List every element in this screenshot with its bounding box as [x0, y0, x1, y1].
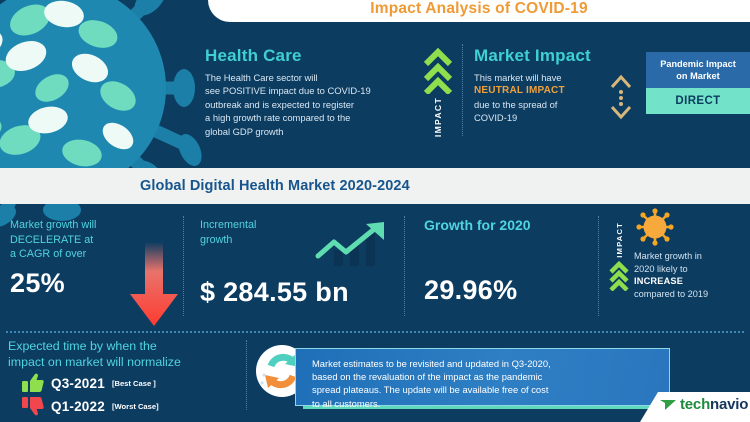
callout-line-4: to all customers.: [312, 397, 659, 410]
health-care-heading: Health Care: [205, 46, 410, 66]
technavio-logo[interactable]: tech navio: [660, 396, 748, 413]
impact-2020-line3: compared to 2019: [634, 288, 750, 301]
chevron-up-icon: [423, 48, 453, 94]
health-care-block: Health Care The Health Care sector will …: [205, 46, 410, 138]
impact-indicator-header: IMPACT: [418, 48, 458, 153]
bottom-section: Expected time by when the impact on mark…: [0, 334, 750, 422]
worst-case-row: Q1-2022 [Worst Case]: [22, 396, 159, 416]
mi-line-3: COVID-19: [474, 111, 602, 124]
pandemic-badge-value: DIRECT: [646, 88, 750, 114]
header-section: Impact Analysis of COVID-19 Health Care …: [0, 0, 750, 168]
hc-line-4: a high growth rate compared to the: [205, 111, 410, 124]
hc-line-1: The Health Care sector will: [205, 71, 410, 84]
pandemic-badge-title-line2: on Market: [650, 70, 746, 82]
stats-divider-2: [404, 216, 405, 316]
horizontal-separator: [6, 331, 744, 333]
subtitle-band: Global Digital Health Market 2020-2024: [0, 168, 750, 204]
pandemic-badge-title-line1: Pandemic Impact: [650, 58, 746, 70]
stats-divider-1: [183, 216, 184, 316]
normalize-title-line2: impact on market will normalize: [8, 354, 248, 370]
callout-line-2: based on the revaluation of the impact a…: [312, 370, 659, 383]
normalize-title-line1: Expected time by when the: [8, 338, 248, 354]
impact-2020-line1: Market growth in: [634, 250, 750, 263]
callout-line-1: Market estimates to be revisited and upd…: [312, 357, 659, 370]
logo-text-tech: tech: [680, 396, 710, 413]
impact-2020-text: Market growth in 2020 likely to INCREASE…: [634, 250, 750, 300]
market-impact-heading: Market Impact: [474, 46, 602, 66]
growth-2020-cell: Growth for 2020 29.96%: [424, 218, 594, 306]
impact-label-header: IMPACT: [433, 97, 443, 137]
best-case-tag: [Best Case ]: [112, 379, 156, 388]
title-panel: Impact Analysis of COVID-19: [208, 0, 750, 22]
best-case-quarter: Q3-2021: [51, 376, 105, 391]
pandemic-badge-title: Pandemic Impact on Market: [646, 52, 750, 88]
page-title: Impact Analysis of COVID-19: [370, 0, 588, 22]
mi-line-1: This market will have: [474, 71, 602, 84]
market-impact-block: Market Impact This market will have NEUT…: [474, 46, 602, 125]
bottom-divider: [246, 340, 247, 410]
normalize-title: Expected time by when the impact on mark…: [8, 338, 248, 370]
up-down-arrow-icon: [608, 74, 634, 120]
cagr-label-line1: Market growth will: [10, 218, 175, 233]
thumbs-up-icon: [22, 373, 44, 393]
impact-label-2020: IMPACT: [615, 222, 624, 258]
market-impact-body: This market will have NEUTRAL IMPACT due…: [474, 71, 602, 125]
impact-2020-highlight: INCREASE: [634, 275, 750, 288]
header-divider: [462, 44, 463, 136]
stats-divider-3: [598, 216, 599, 316]
impact-indicator-2020: IMPACT: [608, 222, 630, 320]
mi-line-2: due to the spread of: [474, 98, 602, 111]
pandemic-impact-badge: Pandemic Impact on Market DIRECT: [646, 52, 750, 114]
worst-case-quarter: Q1-2022: [51, 399, 105, 414]
stats-section: Market growth will DECELERATE at a CAGR …: [0, 204, 750, 330]
hc-line-2: see POSITIVE impact due to COVID-19: [205, 84, 410, 97]
worst-case-tag: [Worst Case]: [112, 402, 159, 411]
best-case-row: Q3-2021 [Best Case ]: [22, 373, 156, 393]
incremental-value: $ 284.55 bn: [200, 277, 395, 308]
callout-line-3: spread plateaus. The update will be avai…: [312, 383, 659, 396]
growth-2020-label: Growth for 2020: [424, 218, 594, 233]
market-subtitle: Global Digital Health Market 2020-2024: [140, 178, 410, 194]
infographic-root: Impact Analysis of COVID-19 Health Care …: [0, 0, 750, 422]
hc-line-3: outbreak and is expected to register: [205, 98, 410, 111]
arrow-down-icon: [128, 242, 180, 326]
health-care-body: The Health Care sector will see POSITIVE…: [205, 71, 410, 138]
coronavirus-orange-icon: [636, 208, 674, 246]
hc-line-5: global GDP growth: [205, 125, 410, 138]
callout-box: Market estimates to be revisited and upd…: [295, 348, 670, 406]
thumbs-down-icon: [22, 396, 44, 416]
growth-2020-value: 29.96%: [424, 275, 594, 306]
chevron-up-icon-2020: [609, 261, 629, 291]
logo-text-navio: navio: [710, 396, 748, 413]
mi-highlight: NEUTRAL IMPACT: [474, 84, 602, 97]
growth-chart-icon: [312, 220, 392, 266]
technavio-flag-icon: [660, 397, 676, 413]
impact-2020-line2: 2020 likely to: [634, 263, 750, 276]
